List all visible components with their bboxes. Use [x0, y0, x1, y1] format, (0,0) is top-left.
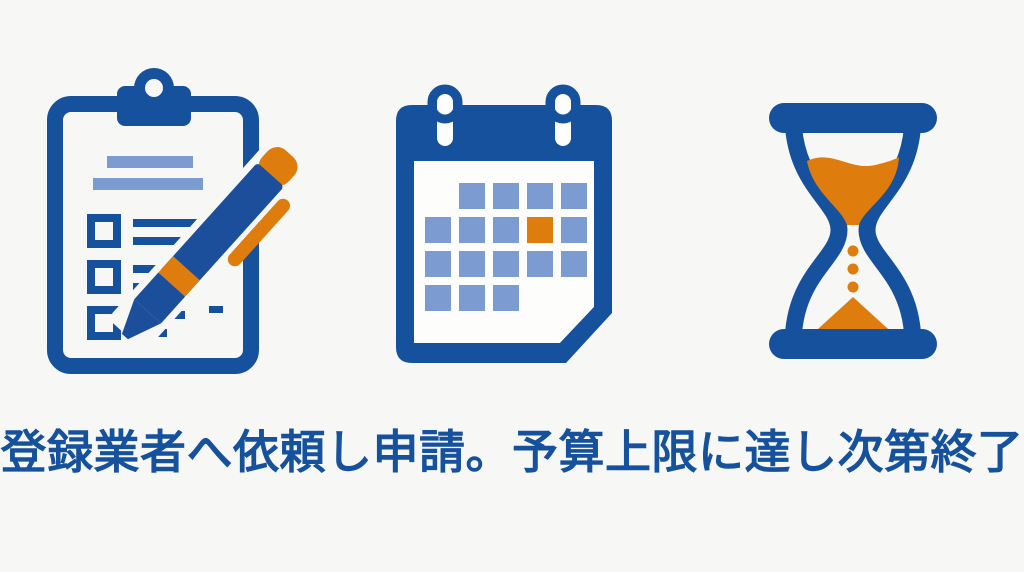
icon-row	[0, 70, 1024, 390]
infographic-canvas: 登録業者へ依頼し申請。予算上限に達し次第終了	[0, 0, 1024, 572]
hourglass-right-wall	[867, 115, 913, 345]
calendar-day-cell	[527, 251, 553, 277]
caption-text: 登録業者へ依頼し申請。予算上限に達し次第終了	[0, 424, 1024, 482]
calendar-day-cell	[561, 251, 587, 277]
clipboard-clip-hole	[145, 79, 163, 97]
calendar-day-cell	[425, 217, 451, 243]
hourglass-icon	[703, 75, 1003, 385]
calendar-day-cell	[459, 251, 485, 277]
clipboard-checkbox-1	[91, 218, 117, 244]
hourglass-sand-drop	[848, 264, 859, 275]
clipboard-checkbox-2	[91, 264, 117, 290]
hourglass-left-wall	[793, 115, 839, 345]
calendar-day-cell	[493, 251, 519, 277]
calendar-day-cell	[493, 217, 519, 243]
calendar-day-cell	[459, 217, 485, 243]
calendar-day-cell	[561, 183, 587, 209]
hourglass-sand-drop	[848, 282, 859, 293]
hourglass-bottom-bar	[769, 329, 937, 359]
calendar-day-cell	[459, 183, 485, 209]
clipboard-pen-svg	[45, 82, 297, 378]
calendar-day-cell	[561, 217, 587, 243]
clipboard-header-line-2	[93, 178, 203, 190]
clipboard-checklist-with-pen-icon	[21, 75, 321, 385]
clipboard-line-3c	[209, 306, 223, 313]
calendar-day-cell	[493, 183, 519, 209]
calendar-day-cell-highlighted	[527, 217, 553, 243]
calendar-day-cell	[425, 285, 451, 311]
clipboard-header-line-1	[107, 156, 193, 168]
calendar-icon	[362, 75, 662, 385]
calendar-day-cell	[493, 285, 519, 311]
hourglass-sand-drop	[848, 246, 859, 257]
hourglass-svg	[755, 89, 951, 371]
calendar-day-cell	[459, 285, 485, 311]
calendar-svg	[380, 85, 644, 375]
hourglass-top-bar	[769, 103, 937, 133]
calendar-day-cell	[425, 251, 451, 277]
calendar-day-cell	[527, 183, 553, 209]
